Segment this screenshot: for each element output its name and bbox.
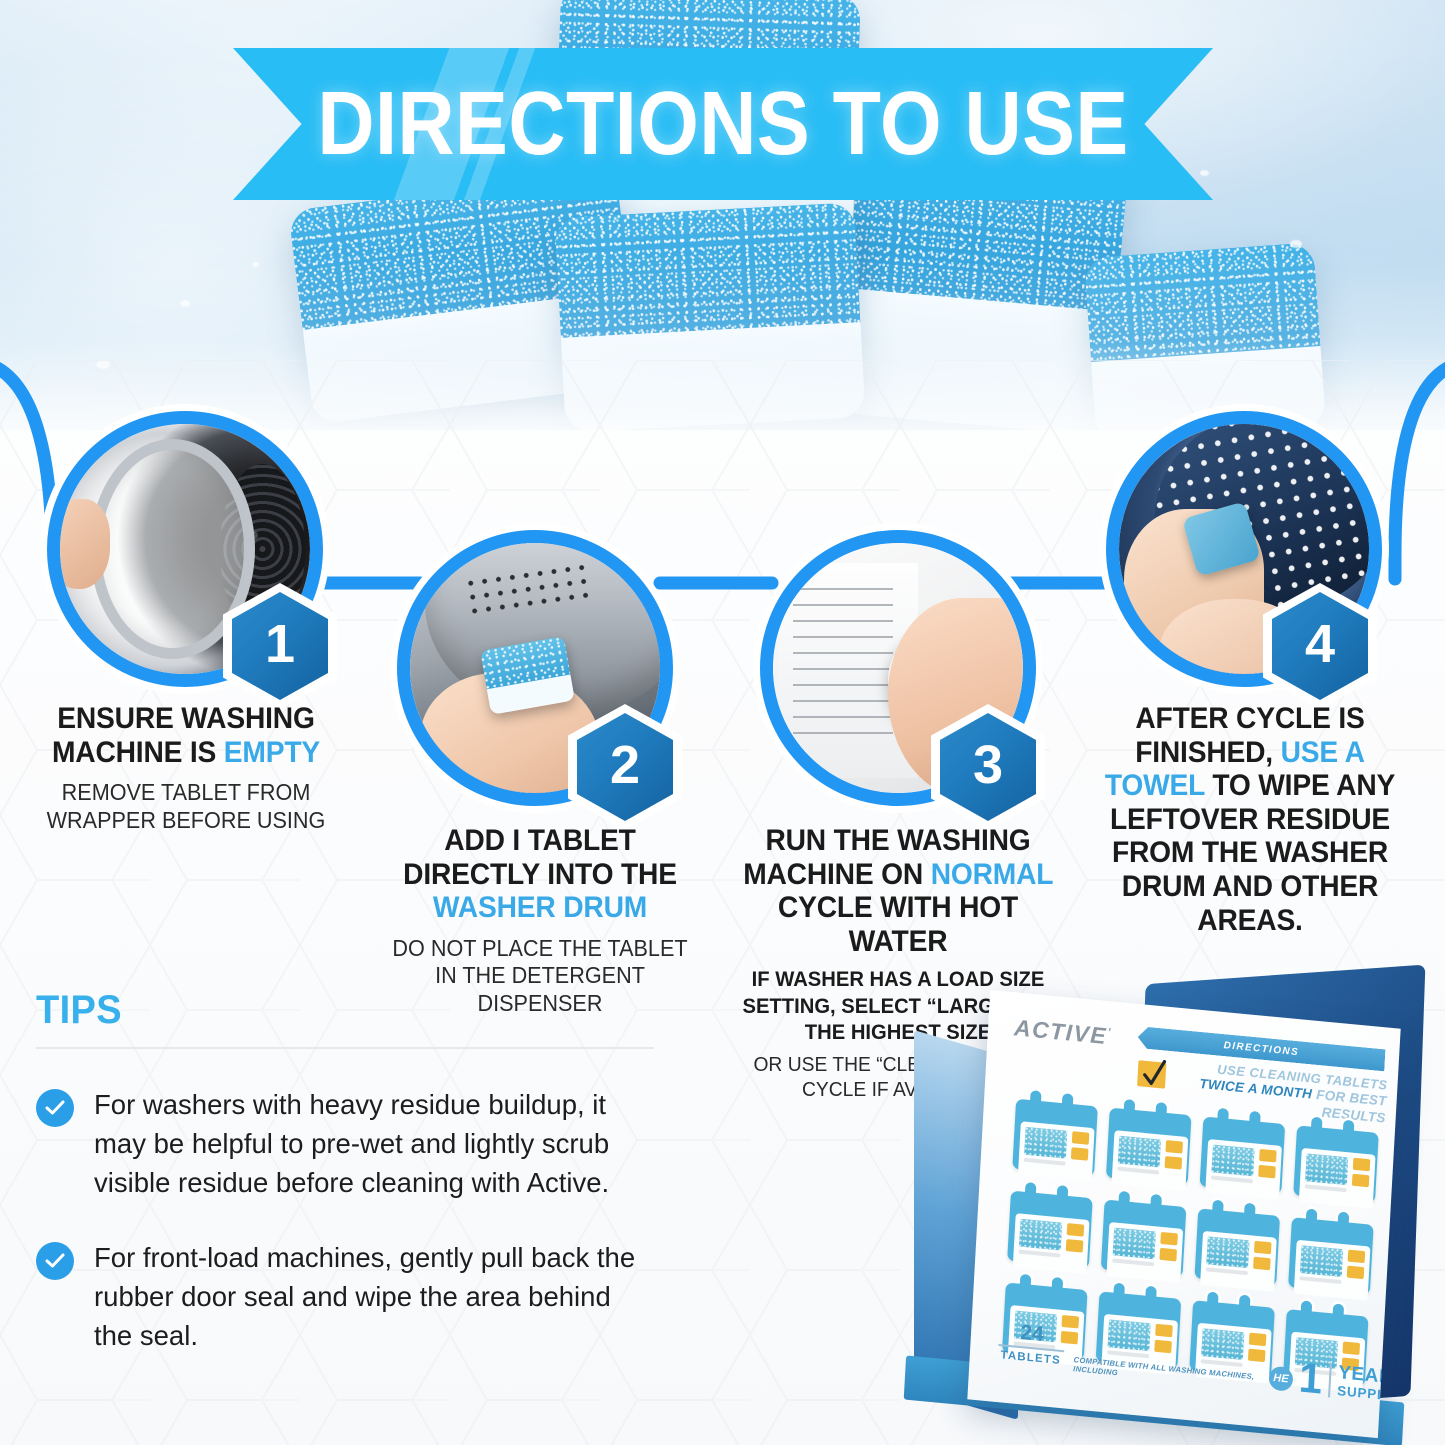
step-3-headline: RUN THE WASHING MACHINE ON NORMAL CYCLE … bbox=[733, 824, 1064, 958]
box-directions-bar: DIRECTIONS bbox=[1137, 1026, 1385, 1071]
tips-divider bbox=[36, 1047, 654, 1049]
panel-label-lines bbox=[793, 588, 893, 743]
tip-item: For washers with heavy residue buildup, … bbox=[36, 1085, 656, 1202]
step-4-headline: AFTER CYCLE IS FINISHED, USE A TOWEL TO … bbox=[1088, 702, 1411, 937]
brand-logo: ACTIVE’ bbox=[1013, 1014, 1112, 1050]
step-3-badge: 3 bbox=[940, 713, 1036, 821]
step-4-badge: 4 bbox=[1272, 592, 1368, 700]
box-front-face: ACTIVE’ DIRECTIONS USE CLEANING TABLETS … bbox=[967, 990, 1400, 1438]
calendar-icon bbox=[1094, 1281, 1182, 1369]
calendar-icon bbox=[1192, 1198, 1280, 1286]
calendar-icon bbox=[1286, 1207, 1374, 1295]
water-droplet bbox=[96, 360, 110, 369]
effervescent-tablet bbox=[555, 202, 866, 430]
step-2-badge: 2 bbox=[577, 713, 673, 821]
tips-section: TIPS For washers with heavy residue buil… bbox=[36, 990, 656, 1355]
infographic-root: DIRECTIONS TO USE 1 ENSURE WASHING MACHI… bbox=[0, 0, 1445, 1445]
tip-item: For front-load machines, gently pull bac… bbox=[36, 1238, 656, 1355]
supply-number: 1 bbox=[1298, 1356, 1324, 1400]
step-1-headline: ENSURE WASHING MACHINE IS EMPTY bbox=[44, 702, 328, 769]
step-2-headline: ADD I TABLET DIRECTLY INTO THE WASHER DR… bbox=[385, 824, 695, 925]
effervescent-tablet bbox=[1084, 242, 1326, 430]
checkmark-icon bbox=[1137, 1060, 1166, 1089]
calendar-icon bbox=[1291, 1115, 1379, 1203]
step-1-badge: 1 bbox=[232, 592, 328, 700]
calendar-icon bbox=[1198, 1106, 1286, 1194]
water-droplet bbox=[1290, 240, 1302, 248]
water-droplet bbox=[1200, 170, 1209, 176]
calendar-icon bbox=[1187, 1290, 1275, 1378]
water-droplet bbox=[180, 300, 190, 307]
calendar-icon bbox=[1104, 1097, 1192, 1185]
tablet-count-block: 24 TABLETS bbox=[994, 1320, 1070, 1367]
tip-text: For front-load machines, gently pull bac… bbox=[94, 1238, 646, 1355]
tips-title: TIPS bbox=[36, 990, 625, 1030]
check-icon bbox=[36, 1242, 74, 1280]
water-droplet bbox=[252, 262, 259, 267]
product-box: ACTIVE’ DIRECTIONS USE CLEANING TABLETS … bbox=[838, 975, 1445, 1445]
check-icon bbox=[36, 1089, 74, 1127]
page-title: DIRECTIONS TO USE bbox=[292, 48, 1154, 200]
tip-text: For washers with heavy residue buildup, … bbox=[94, 1085, 646, 1202]
step-1-subtext: REMOVE TABLET FROM WRAPPER BEFORE USING bbox=[44, 779, 328, 834]
box-directions-label: DIRECTIONS bbox=[1223, 1040, 1299, 1058]
calendar-icon bbox=[1005, 1180, 1093, 1268]
calendar-icon bbox=[1010, 1089, 1098, 1177]
calendar-icon bbox=[1099, 1189, 1187, 1277]
